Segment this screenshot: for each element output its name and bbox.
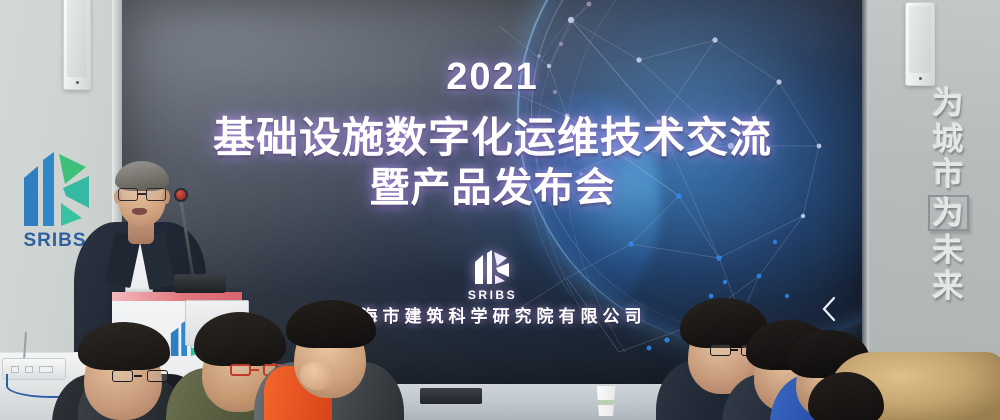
attendee-orange-navy-jacket xyxy=(258,300,394,420)
slide-sribs-logo: SRIBS xyxy=(465,250,521,302)
slogan-char-1: 城 xyxy=(933,124,964,156)
eyeglasses-icon xyxy=(112,370,168,383)
wall-speaker-icon-right xyxy=(905,2,935,86)
slogan-char-4: 未 xyxy=(933,235,964,267)
slogan-char-5: 来 xyxy=(933,271,964,303)
slogan-char-2: 市 xyxy=(933,159,964,191)
sribs-mark-icon xyxy=(471,250,515,286)
hand xyxy=(300,362,334,390)
eyeglasses-icon xyxy=(117,188,167,202)
slide-title-line-2: 暨产品发布会 xyxy=(119,155,866,213)
slide-logo-label: SRIBS xyxy=(465,288,521,302)
slide-year: 2021 xyxy=(119,56,866,99)
slogan-char-3: 为 xyxy=(928,195,969,232)
wall-speaker-icon-left xyxy=(63,0,91,90)
projector-remote xyxy=(420,388,482,404)
conference-photo: 2021 基础设施数字化运维技术交流 暨产品发布会 SRIBS 上海市建筑科学研… xyxy=(0,0,1000,420)
wall-slogan: 为 城 市 为 未 来 xyxy=(923,88,973,303)
paper-cup-band xyxy=(597,400,615,405)
microphone-base xyxy=(174,274,226,293)
attendee-fur-hood xyxy=(830,342,1000,420)
slogan-char-0: 为 xyxy=(933,88,964,120)
